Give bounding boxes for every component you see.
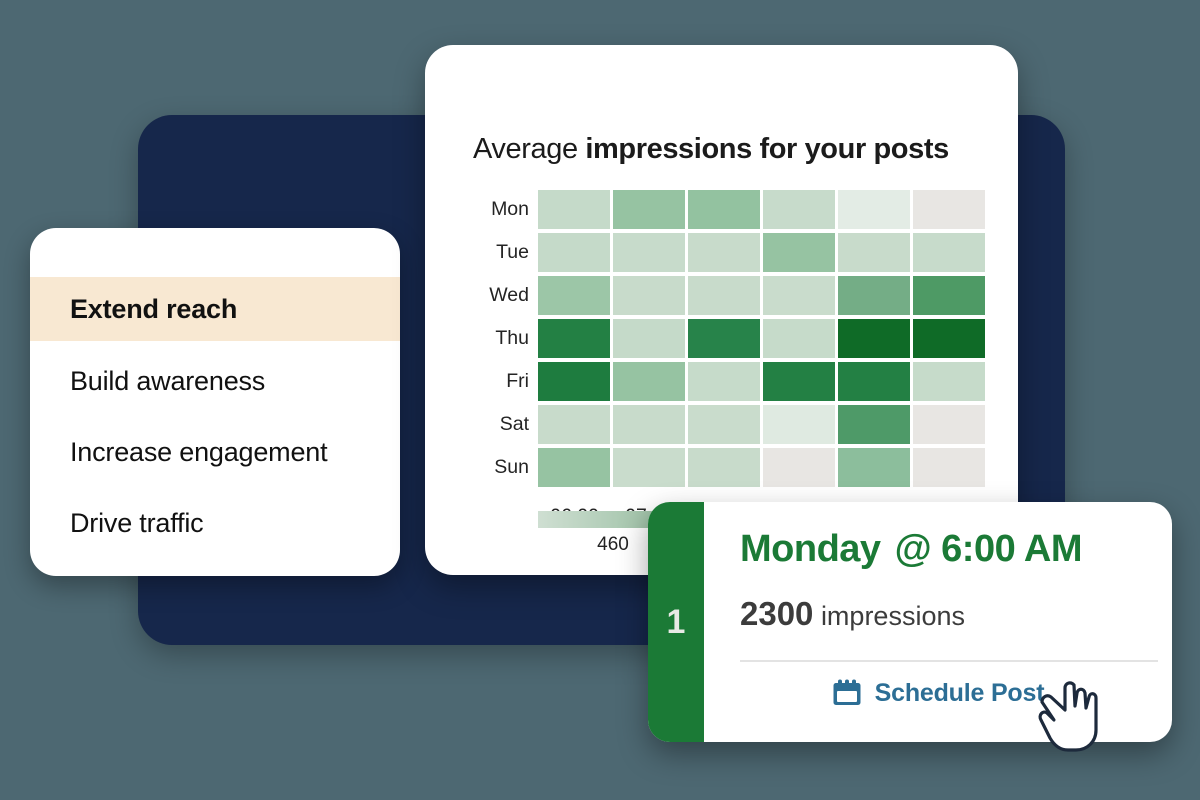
heatmap: MonTueWedThuFriSatSun 06:0007:0008:0009:… xyxy=(425,45,1018,575)
tooltip-time: @ 6:00 AM xyxy=(895,528,1082,570)
heatmap-cell[interactable] xyxy=(838,276,910,315)
heatmap-cell[interactable] xyxy=(838,190,910,229)
rank-badge: 1 xyxy=(648,502,704,742)
heatmap-row-label-wed: Wed xyxy=(443,276,529,315)
heatmap-row xyxy=(538,190,985,229)
impressions-chart-card: Average impressions for your posts MonTu… xyxy=(425,45,1018,575)
heatmap-cell[interactable] xyxy=(913,405,985,444)
heatmap-cell[interactable] xyxy=(688,448,760,487)
heatmap-cell[interactable] xyxy=(913,190,985,229)
heatmap-cell[interactable] xyxy=(763,190,835,229)
heatmap-row xyxy=(538,405,985,444)
heatmap-cell[interactable] xyxy=(613,190,685,229)
heatmap-cell[interactable] xyxy=(763,276,835,315)
heatmap-row-label-sat: Sat xyxy=(443,405,529,444)
list-item-drive-traffic[interactable]: Drive traffic xyxy=(30,492,400,554)
schedule-post-label: Schedule Post xyxy=(875,679,1045,708)
tooltip-heading: Monday@ 6:00 AM xyxy=(740,528,1082,571)
heatmap-cell[interactable] xyxy=(913,276,985,315)
heatmap-cell[interactable] xyxy=(913,448,985,487)
heatmap-cell[interactable] xyxy=(538,276,610,315)
heatmap-cell[interactable] xyxy=(688,233,760,272)
heatmap-cell[interactable] xyxy=(763,405,835,444)
heatmap-cell[interactable] xyxy=(538,233,610,272)
list-item-extend-reach[interactable]: Extend reach xyxy=(30,277,400,341)
list-item-build-awareness[interactable]: Build awareness xyxy=(30,350,400,412)
heatmap-cell[interactable] xyxy=(763,319,835,358)
heatmap-cell[interactable] xyxy=(688,405,760,444)
heatmap-row-label-fri: Fri xyxy=(443,362,529,401)
heatmap-cell[interactable] xyxy=(838,405,910,444)
heatmap-cell[interactable] xyxy=(838,319,910,358)
colorbar-tick-label: 460 xyxy=(578,534,648,556)
divider xyxy=(740,660,1158,662)
tooltip-impressions: 2300 impressions xyxy=(740,595,965,633)
heatmap-cell[interactable] xyxy=(613,233,685,272)
impressions-label: impressions xyxy=(821,601,965,631)
heatmap-cell[interactable] xyxy=(763,448,835,487)
list-item-label: Drive traffic xyxy=(70,508,203,539)
heatmap-row xyxy=(538,233,985,272)
heatmap-row xyxy=(538,276,985,315)
heatmap-cell[interactable] xyxy=(838,362,910,401)
heatmap-row-label-thu: Thu xyxy=(443,319,529,358)
heatmap-cell[interactable] xyxy=(613,448,685,487)
heatmap-row-label-sun: Sun xyxy=(443,448,529,487)
screenshot-stage: Extend reach Build awareness Increase en… xyxy=(0,0,1200,800)
heatmap-cell[interactable] xyxy=(838,233,910,272)
heatmap-row-label-tue: Tue xyxy=(443,233,529,272)
heatmap-cell[interactable] xyxy=(538,319,610,358)
tooltip-day: Monday xyxy=(740,528,881,570)
best-time-tooltip-card: 1 Monday@ 6:00 AM 2300 impressions Sched… xyxy=(648,502,1172,742)
heatmap-row-label-mon: Mon xyxy=(443,190,529,229)
heatmap-cell[interactable] xyxy=(538,448,610,487)
heatmap-cell[interactable] xyxy=(838,448,910,487)
heatmap-cell[interactable] xyxy=(538,405,610,444)
list-item-label: Extend reach xyxy=(70,294,237,325)
heatmap-cell[interactable] xyxy=(538,362,610,401)
heatmap-cell[interactable] xyxy=(913,233,985,272)
list-item-label: Build awareness xyxy=(70,366,265,397)
goal-list-card: Extend reach Build awareness Increase en… xyxy=(30,228,400,576)
heatmap-row xyxy=(538,362,985,401)
heatmap-cell[interactable] xyxy=(688,190,760,229)
tooltip-body: Monday@ 6:00 AM 2300 impressions Schedul… xyxy=(704,502,1172,742)
impressions-value: 2300 xyxy=(740,595,813,632)
heatmap-cell[interactable] xyxy=(763,362,835,401)
heatmap-cell[interactable] xyxy=(913,362,985,401)
heatmap-cell[interactable] xyxy=(613,405,685,444)
heatmap-cell[interactable] xyxy=(613,319,685,358)
calendar-icon xyxy=(832,678,862,708)
heatmap-cell[interactable] xyxy=(538,190,610,229)
heatmap-row xyxy=(538,448,985,487)
schedule-post-button[interactable]: Schedule Post xyxy=(704,678,1172,708)
heatmap-cell[interactable] xyxy=(613,276,685,315)
heatmap-cell[interactable] xyxy=(688,276,760,315)
heatmap-row xyxy=(538,319,985,358)
list-item-label: Increase engagement xyxy=(70,437,327,468)
heatmap-cell[interactable] xyxy=(688,319,760,358)
heatmap-cell[interactable] xyxy=(913,319,985,358)
heatmap-cell[interactable] xyxy=(613,362,685,401)
heatmap-cell[interactable] xyxy=(688,362,760,401)
list-item-increase-engagement[interactable]: Increase engagement xyxy=(30,421,400,483)
heatmap-cell[interactable] xyxy=(763,233,835,272)
